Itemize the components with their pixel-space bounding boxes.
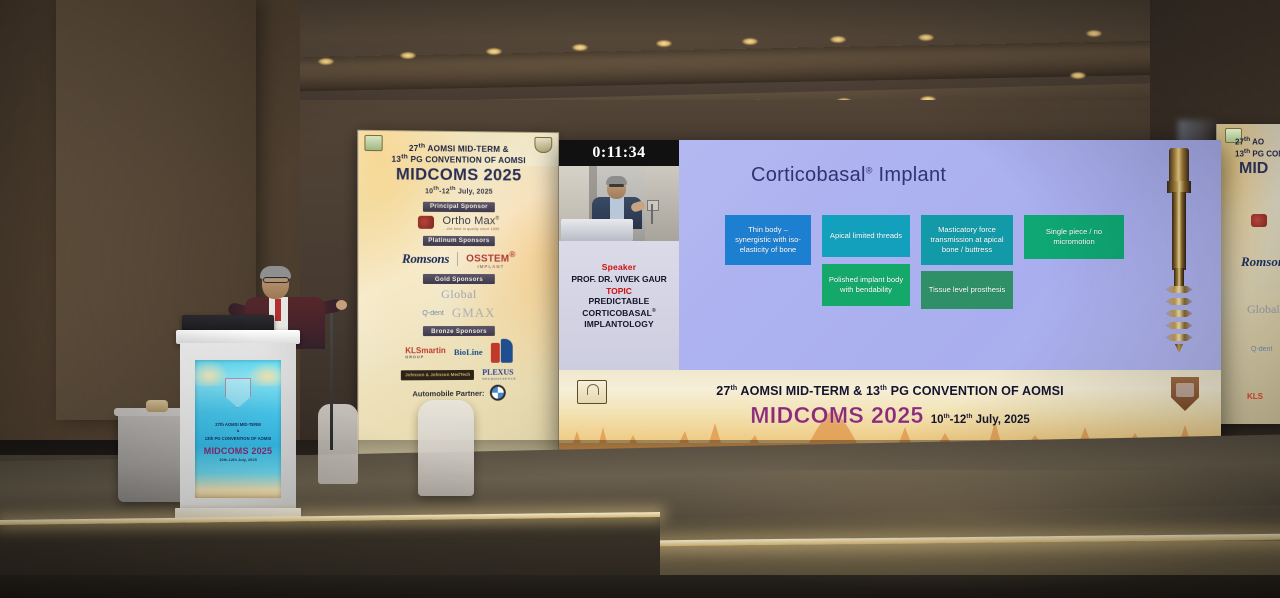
sponsor-logo-johnson: Johnson & Johnson MedTech <box>401 370 474 380</box>
speaker-info-panel: Speaker PROF. DR. VIVEK GAUR TOPIC PREDI… <box>559 241 679 370</box>
osstem-registered: ® <box>509 249 515 259</box>
sponsor-row-gold-1: Global <box>358 287 558 302</box>
presenter-tie <box>275 299 281 321</box>
sponsor-logo-plexus: PLEXUS <box>482 368 513 377</box>
sponsor-row-principal: Ortho Max® ...the best in quality since … <box>358 214 558 231</box>
table-object <box>146 400 168 412</box>
sb-title-l1b: AOMSI MID-TERM & <box>425 144 508 154</box>
implant-tip <box>1175 344 1183 353</box>
sbr-l2b: PG CON <box>1250 150 1280 159</box>
feature-box: Apical limited threads <box>822 215 910 257</box>
sponsor-logo-kls: KLSmartin <box>405 346 446 355</box>
implant-thread <box>1165 286 1193 293</box>
downlight-icon <box>572 44 588 51</box>
sb-title-l1a: 27 <box>409 144 419 153</box>
downlight-icon <box>1070 72 1086 79</box>
feed-lectern <box>561 219 633 241</box>
osstem-sub: IMPLANT <box>466 264 515 269</box>
downlight-icon <box>400 52 416 59</box>
trivasar-mark-icon <box>491 339 513 365</box>
plexus-sub: NEUROSCIENCE <box>482 377 516 381</box>
led-presentation-screen: 0:11:34 Speaker PROF. <box>559 140 1221 455</box>
slide-title-registered: ® <box>866 165 873 175</box>
podium-branding-panel: 27th AOMSI MID-TERM & 13th PG CONVENTION… <box>195 360 281 498</box>
topic-text: PREDICTABLE CORTICOBASAL® IMPLANTOLOGY <box>559 296 679 331</box>
podium-event-dates: 10th-12th July, 2025 <box>195 457 281 462</box>
feature-box: Masticatory force transmission at apical… <box>921 215 1013 265</box>
speaker-camera-feed <box>559 166 679 241</box>
downlight-icon <box>318 58 334 65</box>
sponsor-row-bronze-1: KLSmartin GROUP BioLine <box>358 339 558 366</box>
topic-line-3: IMPLANTOLOGY <box>584 319 654 329</box>
kls-mark: KLS <box>405 346 421 355</box>
ortho-max-tagline: ...the best in quality since 1995 <box>442 227 499 232</box>
feature-box: Polished implant body with bendability <box>822 264 910 306</box>
panel-cloud <box>195 360 229 386</box>
slide-body: Corticobasal® Implant Thin body – synerg… <box>679 140 1221 370</box>
implant-thread <box>1165 310 1193 317</box>
sb-title-l2a: 13 <box>392 155 402 164</box>
floor-foreground <box>0 575 1280 598</box>
sponsor-row-bronze-2: Johnson & Johnson MedTech PLEXUS NEUROSC… <box>358 368 558 382</box>
banner-l1-a: 27 <box>716 384 730 398</box>
banner-left-emblem-icon <box>577 380 607 404</box>
sbr-event-name: MID <box>1217 160 1280 178</box>
podium-top <box>176 330 300 344</box>
downlight-icon <box>486 48 502 55</box>
glasses-icon <box>263 277 289 283</box>
logo-divider <box>457 252 458 266</box>
ortho-max-mark-icon <box>418 216 434 229</box>
topic-label: TOPIC <box>559 286 679 296</box>
sponsor-logo-gmax: GMAX <box>452 305 496 321</box>
sponsor-logo-ortho-max: Ortho Max <box>442 215 495 227</box>
bmw-logo-icon <box>489 385 505 401</box>
speaker-rail: 0:11:34 Speaker PROF. <box>559 140 679 370</box>
sbr-l1b: AO <box>1250 138 1264 147</box>
topic-line-1: PREDICTABLE <box>589 296 650 306</box>
feed-mic-pole <box>651 204 653 224</box>
ortho-max-mark-icon <box>1251 214 1267 227</box>
banner-event-line: MIDCOMS 2025 10th-12th July, 2025 <box>559 402 1221 429</box>
sponsor-logo-romsons: Romsons <box>402 251 449 267</box>
speaker-label: Speaker <box>559 262 679 272</box>
banner-date-b: -12 <box>950 414 967 426</box>
sponsor-board-title: 27th AOMSI MID-TERM & 13th PG CONVENTION… <box>358 131 558 198</box>
sponsor-logo-qdent: Q-dent <box>422 310 443 317</box>
feature-box: Tissue level prosthesis <box>921 271 1013 309</box>
downlight-icon <box>742 38 758 45</box>
downlight-icon <box>656 40 672 47</box>
banner-l1-b: AOMSI MID-TERM & 13 <box>737 384 880 398</box>
presentation-timer: 0:11:34 <box>559 140 679 166</box>
stage-step-front-left <box>0 516 660 584</box>
sbr-title: 27th AO 13th PG CON <box>1217 124 1280 160</box>
panel-cloud <box>247 362 281 386</box>
kls-martin: martin <box>421 346 446 355</box>
automobile-partner-label: Automobile Partner: <box>412 389 484 399</box>
speaker-name: PROF. DR. VIVEK GAUR <box>559 274 679 284</box>
sponsor-logo-osstem: OSSTEM <box>466 253 509 264</box>
implant-thread <box>1165 322 1193 329</box>
topic-registered: ® <box>652 308 656 314</box>
downlight-icon <box>918 34 934 41</box>
banner-l1-supb: th <box>880 385 887 392</box>
feature-box: Thin body – synergistic with iso-elastic… <box>725 215 811 265</box>
banner-event-dates: 10th-12th July, 2025 <box>931 413 1030 426</box>
sbr-l1a: 27 <box>1235 138 1244 147</box>
conference-stage-photo: 27th AOMSI MID-TERM & 13th PG CONVENTION… <box>0 0 1280 598</box>
tier-band-platinum: Platinum Sponsors <box>423 236 495 246</box>
sponsor-row-platinum: Romsons OSSTEM® IMPLANT <box>358 249 558 270</box>
podium-event-line1: 27th AOMSI MID-TERM <box>195 422 281 427</box>
podium-event-amp: & <box>195 429 281 433</box>
dental-implant-screw-image <box>1161 148 1197 353</box>
sb-date-b: -12 <box>439 188 450 195</box>
tier-band-gold: Gold Sponsors <box>423 274 495 284</box>
podium-event-name: MIDCOMS 2025 <box>195 446 281 456</box>
feed-mic-stand-icon <box>647 200 659 211</box>
banner-event-name: MIDCOMS 2025 <box>750 402 924 429</box>
presenter-right-hand <box>336 300 347 310</box>
sb-date-c: July, 2025 <box>456 189 493 196</box>
stage-chair <box>418 400 474 496</box>
sponsor-logo-global: Global <box>441 287 477 302</box>
feed-speaker-glasses-icon <box>609 184 624 187</box>
podium: 27th AOMSI MID-TERM & 13th PG CONVENTION… <box>176 330 300 530</box>
slide-title-suffix: Implant <box>873 164 947 186</box>
implant-head <box>1169 148 1189 182</box>
kls-sub: GROUP <box>405 355 446 359</box>
sb-title-l2b: PG CONVENTION OF AOMSI <box>408 155 526 165</box>
sponsor-logo-global: Global <box>1247 302 1280 317</box>
sponsor-row-gold-2: Q-dent GMAX <box>358 305 558 321</box>
banner-convention-line: 27th AOMSI MID-TERM & 13th PG CONVENTION… <box>559 370 1221 398</box>
topic-line-2: CORTICOBASAL <box>582 308 652 318</box>
sbr-l2a: 13 <box>1235 150 1244 159</box>
downlight-icon <box>1086 30 1102 37</box>
tier-band-principal: Principal Sponsor <box>423 201 495 211</box>
sponsor-backdrop-right: 27th AO 13th PG CON MID Romsons Global Q… <box>1216 124 1280 424</box>
ortho-max-registered: ® <box>495 215 499 221</box>
banner-date-a: 10 <box>931 414 944 426</box>
sponsor-logo-bioline: BioLine <box>454 347 483 357</box>
presentation-slide: 0:11:34 Speaker PROF. <box>559 140 1221 370</box>
stage-chair <box>318 404 358 484</box>
banner-date-c: July, 2025 <box>972 414 1029 426</box>
implant-shaft <box>1172 192 1186 270</box>
implant-thread <box>1165 298 1193 305</box>
feature-box: Single piece / no micromotion <box>1024 215 1124 259</box>
downlight-icon <box>830 36 846 43</box>
banner-l1-c: PG CONVENTION OF AOMSI <box>887 384 1064 398</box>
slide-title-main: Corticobasal <box>751 164 866 186</box>
podium-crest-icon <box>225 378 251 408</box>
sponsor-logo-qdent: Q-dent <box>1251 346 1272 353</box>
podium-event-line2: 13th PG CONVENTION OF AOMSI <box>195 436 281 441</box>
implant-thread <box>1165 334 1193 341</box>
tier-band-bronze: Bronze Sponsors <box>423 326 495 336</box>
sponsor-logo-romsons: Romsons <box>1241 254 1280 270</box>
sponsor-logo-kls: KLS <box>1247 392 1263 401</box>
sb-event-name: MIDCOMS 2025 <box>358 165 558 186</box>
slide-title: Corticobasal® Implant <box>751 164 946 187</box>
